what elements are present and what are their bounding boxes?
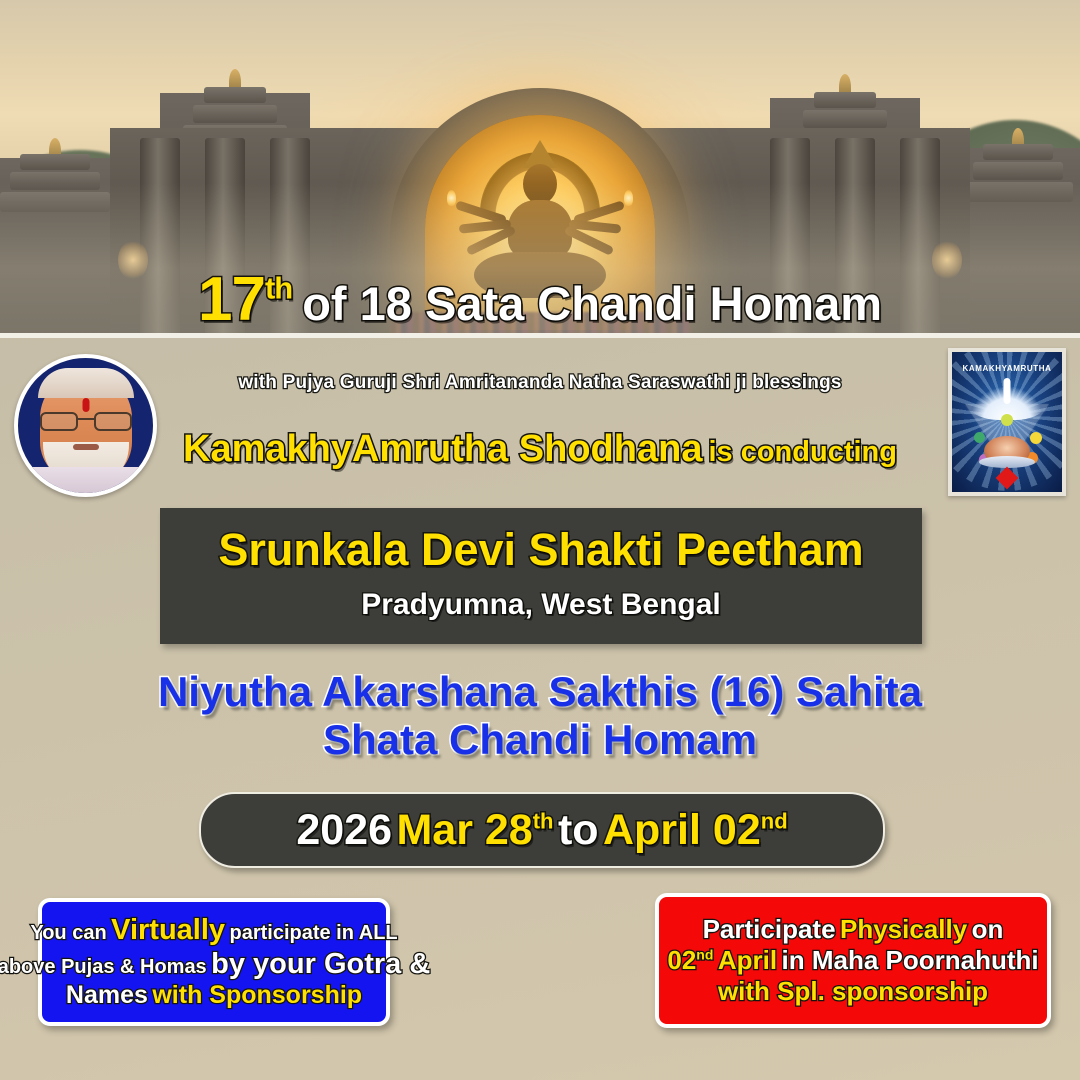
blessing-line: with Pujya Guruji Shri Amritananda Natha… [0,372,1080,394]
date-from: Mar 28th [396,806,553,855]
glasses-icon [38,412,134,427]
homam-title: Niyutha Akarshana Sakthis (16) Sahita Sh… [0,668,1080,764]
date-pill: 2026 Mar 28th to April 02nd [199,792,885,868]
headline-ordinal: 17th [198,265,292,334]
hero-divider [0,333,1080,338]
physical-line-2: 02nd April in Maha Poornahuthi [667,945,1038,976]
date-connector: to [558,806,599,855]
hero-temple-image: 17thof 18 Sata Chandi Homam [0,0,1080,338]
organizer-verb: is conducting [708,436,897,468]
virtual-line-1: You can Virtually participate in ALL [30,914,397,948]
date-year: 2026 [296,806,392,855]
organizer-line: KamakhyAmrutha Shodhanais conducting [0,428,1080,471]
chakra-dot [1001,414,1013,426]
peetham-location: Pradyumna, West Bengal [160,588,922,622]
virtual-line-3: Names with Sponsorship [66,981,362,1010]
homam-line-1: Niyutha Akarshana Sakthis (16) Sahita [0,668,1080,716]
virtual-line-2: above Pujas & Homas by your Gotra & [0,948,430,982]
organizer-name: KamakhyAmrutha Shodhana [183,428,702,470]
headline: 17thof 18 Sata Chandi Homam [0,269,1080,331]
physical-date: 02nd [667,945,713,975]
peetham-box: Srunkala Devi Shakti Peetham Pradyumna, … [160,508,922,644]
physical-line-1: Participate Physically on [703,914,1004,945]
virtual-participation-panel[interactable]: You can Virtually participate in ALL abo… [38,898,390,1026]
tilak-mark [82,398,89,412]
homam-line-2: Shata Chandi Homam [0,716,1080,764]
peetham-title: Srunkala Devi Shakti Peetham [160,524,922,576]
date-to: April 02nd [603,806,788,855]
physical-participation-panel[interactable]: Participate Physically on 02nd April in … [655,893,1051,1028]
headline-rest: of 18 Sata Chandi Homam [302,277,882,330]
poster-root: 17thof 18 Sata Chandi Homam KAMAKHYAMRUT… [0,0,1080,1080]
physical-line-3: with Spl. sponsorship [718,976,988,1007]
kamakhyamrutha-logo: KAMAKHYAMRUTHA [948,348,1066,496]
